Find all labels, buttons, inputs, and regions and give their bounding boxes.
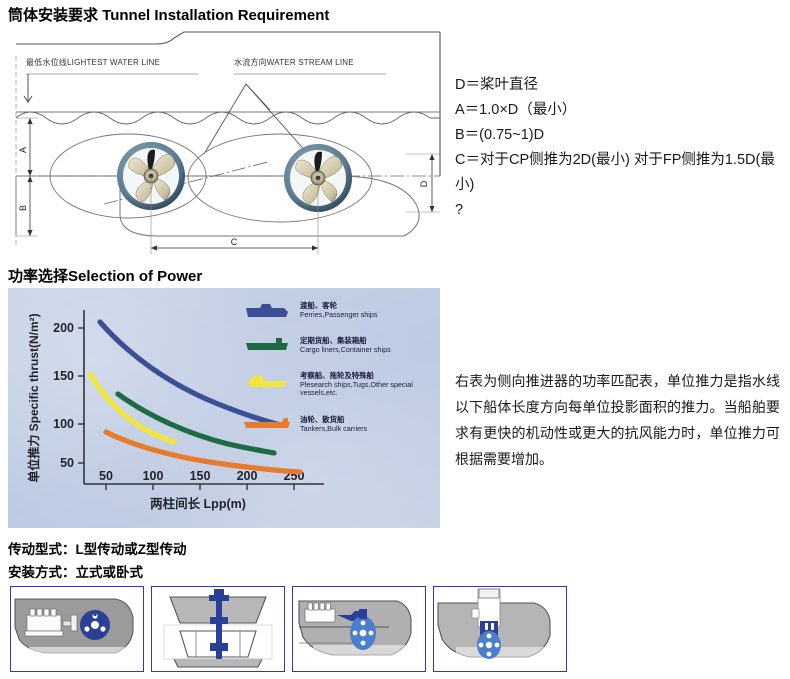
- panel-horizontal-l-drive: [10, 586, 144, 672]
- power-selection-heading: 功率选择Selection of Power: [8, 265, 202, 286]
- spec-line-a: A＝1.0×D（最小）: [455, 98, 785, 123]
- spec-line-b: B＝(0.75~1)D: [455, 123, 785, 148]
- mounting-method-line: 安装方式：立式或卧式: [8, 561, 143, 581]
- svg-text:200: 200: [53, 321, 74, 335]
- legend-label-cargo: 定期货船、集装箱船 Cargo liners,Container ships: [300, 337, 391, 354]
- electric-motor-thruster: [477, 621, 501, 659]
- power-selection-note: 右表为侧向推进器的功率匹配表，单位推力是指水线以下船体长度方向每单位投影面积的推…: [455, 368, 780, 472]
- legend-label-ferries: 渡船、客轮 Ferries,Passenger ships: [300, 302, 378, 319]
- document-page: 筒体安装要求 Tunnel Installation Requirement: [0, 0, 790, 679]
- svg-text:50: 50: [99, 469, 113, 483]
- thruster-propeller-icon: [80, 610, 110, 640]
- panel-engine-driven-tunnel: [292, 586, 426, 672]
- dimension-spec-list: D＝桨叶直径 A＝1.0×D（最小） B＝(0.75~1)D C＝对于CP侧推为…: [455, 73, 785, 223]
- legend-label-research: 考察船、拖轮及特殊船 Plesearch ships,Tugs,Other sp…: [300, 372, 432, 398]
- legend-icon-research: [248, 376, 286, 387]
- svg-text:150: 150: [53, 369, 74, 383]
- legend-icon-ferry: [246, 304, 288, 317]
- svg-text:两柱间长 Lpp(m): 两柱间长 Lpp(m): [150, 496, 246, 511]
- spec-line-c: C＝对于CP侧推为2D(最小) 对于FP侧推为1.5D(最小): [455, 148, 785, 198]
- legend-icon-cargo: [246, 338, 288, 350]
- svg-text:A: A: [18, 147, 28, 153]
- chart-plot-area: 200 150 100 50 50 100 150 200 250: [8, 288, 440, 528]
- panel-vertical-z-drive: [151, 586, 285, 672]
- installation-panel-row: [10, 586, 582, 674]
- svg-text:D: D: [419, 180, 429, 187]
- spec-line-d: D＝桨叶直径: [455, 73, 785, 98]
- svg-text:C: C: [231, 237, 238, 247]
- svg-text:100: 100: [143, 469, 164, 483]
- legend-label-tankers: 油轮、散货船 Tankers,Bulk carriers: [300, 416, 367, 433]
- svg-text:单位推力 Specific thrust(N/m²): 单位推力 Specific thrust(N/m²): [26, 313, 41, 482]
- svg-text:200: 200: [237, 469, 258, 483]
- svg-text:100: 100: [53, 417, 74, 431]
- spec-line-question: ?: [455, 198, 785, 223]
- drive-type-line: 传动型式：L型传动或Z型传动: [8, 538, 187, 558]
- lightest-water-line-label: 最低水位线LIGHTEST WATER LINE: [26, 57, 160, 68]
- water-stream-line-label: 水流方向WATER STREAM LINE: [234, 57, 354, 68]
- svg-text:B: B: [18, 205, 28, 211]
- panel-vertical-electric-thruster: [433, 586, 567, 672]
- svg-text:50: 50: [60, 456, 74, 470]
- svg-text:150: 150: [190, 469, 211, 483]
- specific-thrust-chart: 200 150 100 50 50 100 150 200 250: [8, 288, 440, 528]
- tunnel-installation-heading: 筒体安装要求 Tunnel Installation Requirement: [8, 4, 329, 25]
